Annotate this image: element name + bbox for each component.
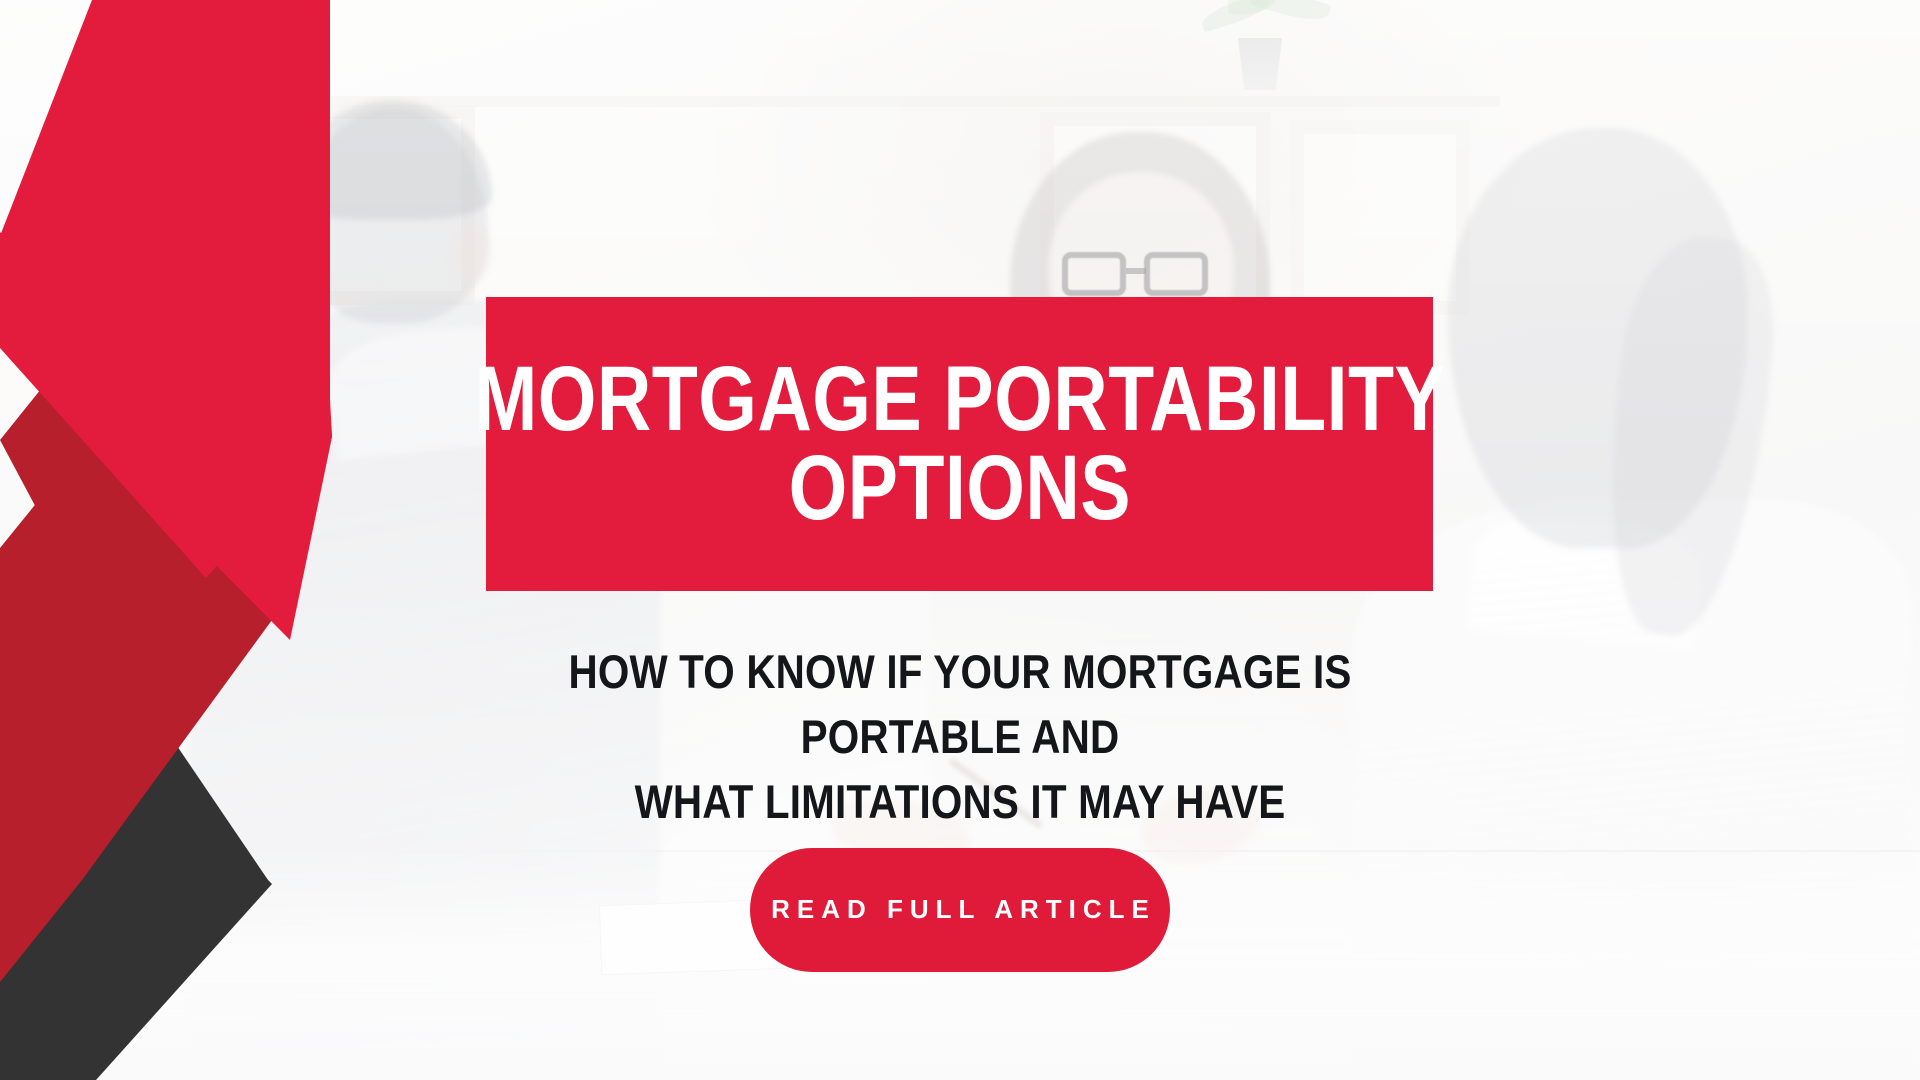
- promo-banner: MORTGAGE PORTABILITY OPTIONS HOW TO KNOW…: [0, 0, 1920, 1080]
- title-plate: MORTGAGE PORTABILITY OPTIONS: [486, 297, 1433, 591]
- subtitle-line-1: HOW TO KNOW IF YOUR MORTGAGE IS PORTABLE…: [496, 640, 1425, 770]
- subtitle: HOW TO KNOW IF YOUR MORTGAGE IS PORTABLE…: [420, 640, 1500, 835]
- title-line-1: MORTGAGE PORTABILITY: [474, 355, 1445, 444]
- subtitle-line-2: WHAT LIMITATIONS IT MAY HAVE: [496, 770, 1425, 835]
- read-full-article-button[interactable]: READ FULL ARTICLE: [750, 848, 1170, 972]
- banner-content: MORTGAGE PORTABILITY OPTIONS HOW TO KNOW…: [0, 0, 1920, 1080]
- title-line-2: OPTIONS: [788, 444, 1130, 533]
